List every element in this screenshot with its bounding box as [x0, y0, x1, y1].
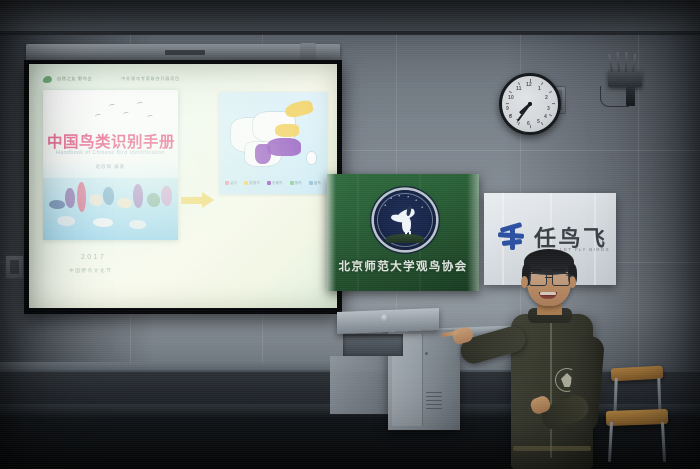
map-legend: 留鸟 夏候鸟 冬候鸟 旅鸟 迷鸟	[225, 178, 321, 187]
legend-label: 夏候鸟	[249, 180, 260, 185]
bird-silhouette-icon	[109, 103, 116, 108]
map-region-yellow	[284, 99, 315, 119]
cabinet-vent	[426, 408, 442, 409]
legend-item: 迷鸟	[309, 180, 321, 185]
bird-illustration	[89, 194, 103, 206]
clock-numeral: 12	[526, 82, 532, 88]
bird-illustration	[65, 188, 75, 208]
clock-tick	[541, 82, 544, 85]
legend-label: 留鸟	[230, 180, 237, 185]
chair-backrest[interactable]	[611, 366, 664, 382]
book-cover-image: 中国鸟类识别手册 Handbook of Chinese Bird Identi…	[43, 90, 178, 240]
signal-jammer-antenna	[608, 70, 642, 87]
legend-label: 旅鸟	[295, 180, 302, 185]
crane-emblem	[374, 190, 436, 250]
legend-label: 迷鸟	[314, 180, 321, 185]
arrow-right-icon	[181, 192, 215, 208]
clock-center-pin	[528, 102, 531, 105]
keyboard-tray[interactable]	[343, 334, 403, 356]
presenter-hair	[524, 249, 574, 275]
china-distribution-map: 留鸟 夏候鸟 冬候鸟 旅鸟 迷鸟	[219, 92, 327, 194]
arrow-shaft	[181, 197, 203, 204]
device-power-box	[626, 86, 635, 106]
legend-swatch	[244, 181, 248, 185]
emblem-arc-text	[382, 237, 428, 246]
wall-clock: 12 1 2 3 4 5 6 7 8 9 10 11	[499, 73, 561, 135]
book-title: 中国鸟类识别手册	[47, 130, 174, 152]
crane-bird-figure	[387, 202, 423, 236]
slide-year: 2017	[81, 254, 106, 261]
clock-numeral: 2	[545, 95, 548, 101]
presenter-teeth	[540, 292, 556, 295]
side-desk	[330, 356, 390, 414]
clock-numeral: 1	[538, 86, 541, 92]
bird-logo-icon	[42, 76, 52, 83]
bird-illustration	[161, 186, 172, 206]
legend-item: 夏候鸟	[244, 180, 260, 185]
clock-tick	[541, 122, 544, 125]
legend-item: 留鸟	[225, 180, 237, 185]
clock-tick	[549, 114, 552, 117]
wall-tile-line	[340, 150, 700, 151]
map-region-purple	[267, 138, 301, 156]
legend-swatch	[267, 181, 271, 185]
cabinet-vent	[426, 392, 442, 393]
clock-tick	[530, 125, 531, 128]
housing-badge	[165, 50, 205, 55]
slide-header-org-right: 中外观鸟专家联合开展项目	[121, 76, 180, 82]
ceiling	[0, 0, 700, 34]
clock-numeral: 11	[516, 86, 521, 92]
bird-silhouette-icon	[95, 113, 102, 118]
jacket-hem	[513, 446, 591, 451]
clock-numeral: 6	[527, 121, 530, 127]
legend-item: 旅鸟	[290, 180, 302, 185]
flying-birds-decoration	[89, 100, 159, 124]
bird-silhouette-icon	[147, 114, 154, 119]
slide-header-org-left: 自然之友 野鸟会	[57, 76, 92, 82]
legend-label: 冬候鸟	[272, 180, 283, 185]
clock-numeral: 8	[509, 114, 512, 120]
china-outline	[227, 100, 319, 174]
legend-swatch	[225, 181, 229, 185]
outlet-socket	[10, 260, 19, 274]
clock-numeral: 9	[506, 106, 509, 112]
clock-numeral: 3	[547, 106, 550, 112]
clock-numeral: 4	[544, 114, 547, 120]
projection-screen: 自然之友 野鸟会 中外观鸟专家联合开展项目 中国鸟类识别手册 Handbook …	[29, 64, 337, 308]
legend-swatch	[290, 181, 294, 185]
eyeglasses-left-lens	[529, 273, 547, 286]
chair-seat[interactable]	[606, 409, 668, 426]
bird-illustration	[77, 182, 86, 212]
presenter-ear	[521, 276, 528, 288]
bird-silhouette-icon	[123, 111, 130, 116]
bird-illustration	[129, 220, 146, 229]
cabinet-vent	[426, 400, 442, 401]
clock-numeral: 5	[537, 119, 540, 125]
presenter-ear	[569, 276, 576, 288]
lectern-podium[interactable]	[337, 308, 439, 334]
bird-illustration	[133, 184, 143, 208]
power-outlet[interactable]	[5, 255, 24, 279]
device-cable	[600, 86, 629, 107]
bird-illustration	[103, 187, 114, 205]
slide-header: 自然之友 野鸟会 中外观鸟专家联合开展项目	[43, 72, 323, 86]
bird-silhouette-icon	[137, 101, 144, 106]
clock-numeral: 10	[508, 95, 514, 101]
book-author: 赵欣如 编著	[47, 164, 174, 170]
legend-item: 冬候鸟	[267, 180, 283, 185]
bird-illustration	[93, 218, 113, 227]
clock-tick	[549, 91, 552, 94]
clock-tick	[506, 103, 509, 104]
clock-tick	[518, 82, 521, 85]
podium-knob[interactable]	[381, 314, 389, 322]
book-cover-illustration	[43, 178, 178, 240]
bird-illustration	[49, 200, 65, 209]
jacket-zipper	[550, 318, 552, 458]
presenter-eyebrow	[529, 269, 542, 271]
ceiling-edge	[0, 31, 700, 35]
clock-tick	[509, 91, 512, 94]
slide-footer: 中国野鸟文化节	[69, 268, 112, 274]
book-subtitle: Handbook of Chinese Bird Identification	[47, 150, 174, 156]
bird-illustration	[117, 198, 132, 208]
map-region-purple	[255, 144, 271, 164]
antenna-rod	[625, 52, 627, 72]
cabinet-vent	[426, 396, 442, 397]
classroom-scene: 12 1 2 3 4 5 6 7 8 9 10 11 自然之友 野鸟会 中外观鸟…	[0, 0, 700, 469]
bird-illustration	[147, 193, 160, 207]
clock-tick	[552, 103, 555, 104]
legend-swatch	[309, 181, 313, 185]
arrow-head	[202, 192, 214, 208]
map-region-yellow	[275, 124, 299, 137]
map-island	[307, 152, 316, 164]
green-banner-text: 北京师范大学观鸟协会	[331, 258, 475, 274]
bird-illustration	[57, 216, 75, 226]
cabinet-vent	[426, 404, 442, 405]
presenter	[455, 240, 630, 469]
eyeglasses-bridge	[545, 277, 552, 278]
presenter-eyebrow	[552, 269, 565, 271]
